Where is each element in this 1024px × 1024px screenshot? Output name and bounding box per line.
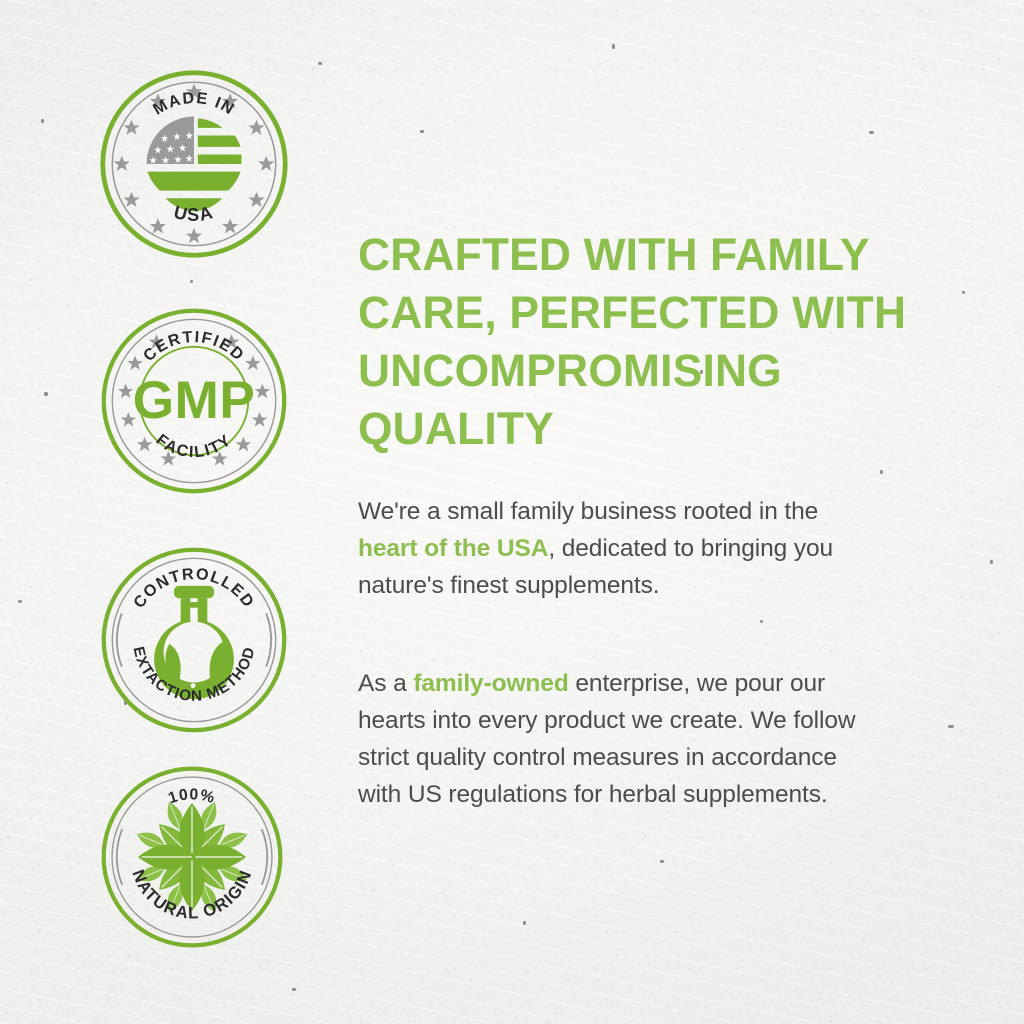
left-arc [117, 829, 123, 885]
paragraph-two: As a family-owned enterprise, we pour ou… [358, 665, 883, 813]
badge-controlled-extraction-method: CONTROLLED EXTACTION METHOD [99, 545, 289, 735]
svg-text:USA: USA [172, 202, 216, 225]
left-arc [117, 613, 122, 666]
paragraph-two-highlight: family-owned [413, 670, 568, 697]
extraction-badge-graphic: CONTROLLED EXTACTION METHOD [99, 545, 289, 735]
badge-natural-origin: 100% NATURAL ORIGIN [99, 764, 285, 950]
paragraph-two-before: As a [358, 670, 413, 697]
promo-banner: MADE IN USA [0, 0, 1024, 1024]
usa-flag-roundel-icon [147, 117, 242, 212]
gmp-label: GMP [133, 371, 256, 430]
badge-bottom-text: USA [172, 202, 216, 225]
paragraph-one: We're a small family business rooted in … [358, 493, 848, 604]
svg-text:EXTACTION METHOD: EXTACTION METHOD [130, 645, 259, 705]
natural-origin-badge-graphic: 100% NATURAL ORIGIN [99, 764, 285, 950]
certification-badge-column: MADE IN USA [0, 0, 340, 1024]
right-arc [262, 829, 268, 885]
gmp-badge-graphic: GMP CERTIFIED FACILITY [99, 306, 289, 496]
right-arc [266, 613, 271, 666]
badge-top-text: MADE IN [150, 89, 238, 119]
badge-bottom-text: EXTACTION METHOD [130, 645, 259, 705]
badge-made-in-usa: MADE IN USA [99, 69, 289, 259]
text-content: CRAFTED WITH FAMILY CARE, PERFECTED WITH… [358, 0, 958, 1024]
paragraph-one-before: We're a small family business rooted in … [358, 498, 818, 525]
svg-text:MADE IN: MADE IN [150, 89, 238, 119]
badge-gmp-certified-facility: GMP CERTIFIED FACILITY [99, 306, 289, 496]
page-title: CRAFTED WITH FAMILY CARE, PERFECTED WITH… [358, 226, 919, 458]
paragraph-one-highlight: heart of the USA [358, 535, 548, 562]
made-in-usa-badge-graphic: MADE IN USA [99, 69, 289, 259]
